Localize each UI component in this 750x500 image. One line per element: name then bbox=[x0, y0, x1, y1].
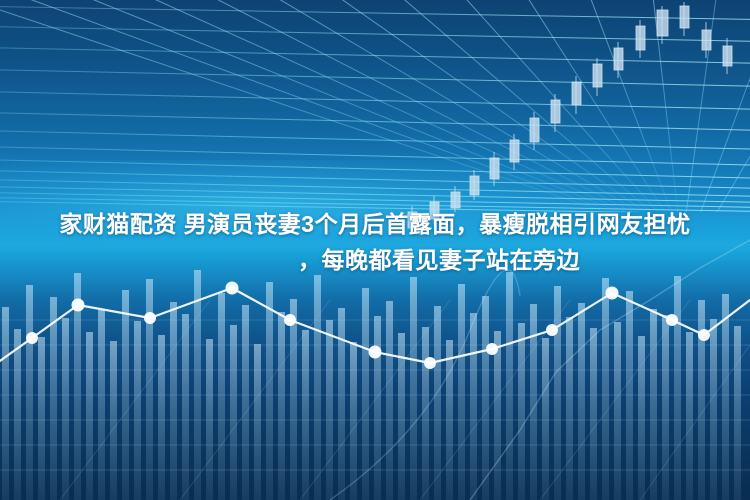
headline-line-1: 家财猫配资 男演员丧妻3个月后首露面，暴瘦脱相引网友担忧 bbox=[14, 206, 736, 242]
headline-line-2: ，每晚都看见妻子站在旁边 bbox=[142, 242, 736, 278]
page-title: 家财猫配资 男演员丧妻3个月后首露面，暴瘦脱相引网友担忧 ，每晚都看见妻子站在旁… bbox=[0, 206, 750, 278]
banner-image: 家财猫配资 男演员丧妻3个月后首露面，暴瘦脱相引网友担忧 ，每晚都看见妻子站在旁… bbox=[0, 0, 750, 500]
